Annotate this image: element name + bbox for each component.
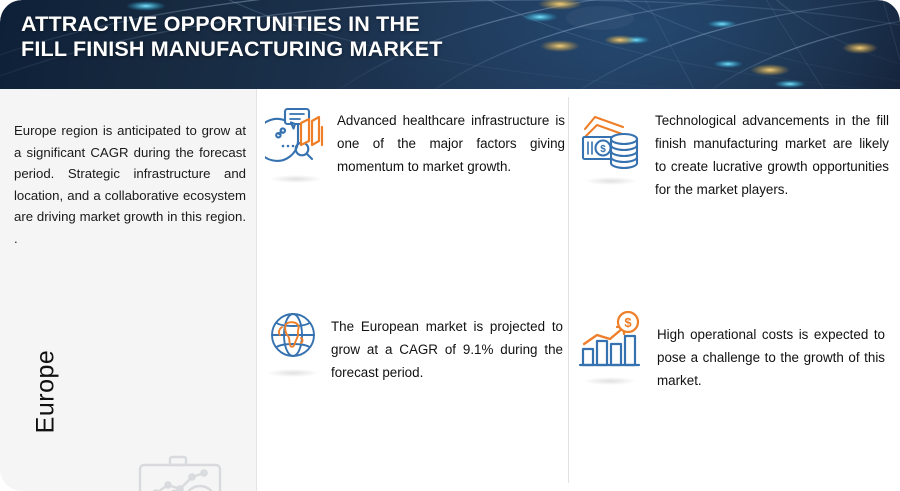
globe-icon bbox=[265, 307, 321, 370]
insight-card-high-operational-costs: $ High operational costs is expected to … bbox=[577, 311, 891, 392]
insight-text: The European market is projected to grow… bbox=[331, 315, 563, 384]
money-cash-coins-icon: $ bbox=[579, 107, 643, 178]
content-area: Europe region is anticipated to grow at … bbox=[0, 89, 900, 491]
percent-analytics-barchart-icon bbox=[265, 105, 327, 176]
insight-card-european-market-cagr: The European market is projected to grow… bbox=[265, 307, 565, 384]
insight-card-technological-advancements: $ Technological advancements in the fill… bbox=[579, 107, 891, 201]
svg-text:$: $ bbox=[600, 144, 606, 155]
insight-text: Advanced healthcare infrastructure is on… bbox=[337, 109, 565, 178]
infographic-card: ATTRACTIVE OPPORTUNITIES IN THE FILL FIN… bbox=[0, 0, 900, 491]
icon-shadow bbox=[584, 377, 636, 385]
insight-card-advanced-healthcare: Advanced healthcare infrastructure is on… bbox=[265, 105, 565, 178]
region-vertical-label: Europe bbox=[32, 332, 61, 452]
left-region-panel: Europe region is anticipated to grow at … bbox=[0, 89, 257, 491]
icon-shadow bbox=[585, 177, 637, 185]
svg-text:$: $ bbox=[624, 315, 632, 330]
presentation-chart-magnifier-icon bbox=[130, 451, 230, 491]
icon-shadow bbox=[267, 369, 319, 377]
header-banner: ATTRACTIVE OPPORTUNITIES IN THE FILL FIN… bbox=[0, 0, 900, 89]
insight-text: High operational costs is expected to po… bbox=[657, 323, 885, 392]
insight-text: Technological advancements in the fill f… bbox=[655, 109, 889, 201]
vertical-divider bbox=[568, 97, 569, 483]
growth-barchart-dollar-icon: $ bbox=[577, 311, 643, 378]
page-title: ATTRACTIVE OPPORTUNITIES IN THE FILL FIN… bbox=[21, 12, 443, 62]
region-summary-text: Europe region is anticipated to grow at … bbox=[14, 120, 246, 249]
icon-shadow bbox=[270, 175, 322, 183]
insights-panel: Advanced healthcare infrastructure is on… bbox=[257, 89, 900, 491]
